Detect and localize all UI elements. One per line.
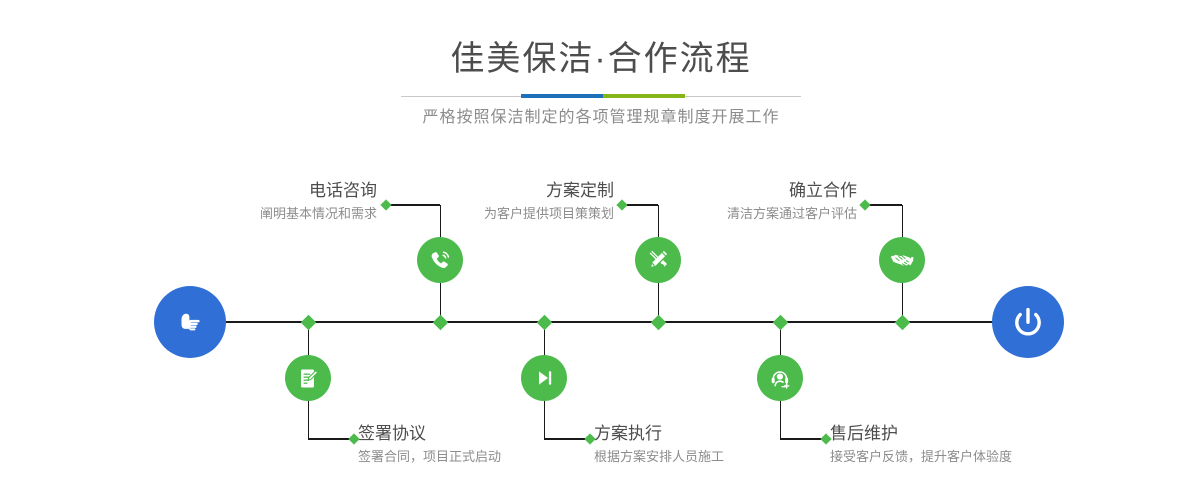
- step-title-2: 签署协议: [358, 423, 501, 445]
- pencil-ruler-icon: [644, 246, 672, 274]
- step-desc-2: 签署合同，项目正式启动: [358, 447, 501, 467]
- step-elbow-1: [386, 204, 440, 206]
- page-header: 佳美保洁·合作流程 严格按照保洁制定的各项管理规章制度开展工作: [0, 0, 1202, 150]
- power-icon: [1007, 301, 1049, 343]
- step-title-4: 方案执行: [594, 423, 724, 445]
- step-icon-circle-1[interactable]: [417, 237, 463, 283]
- divider-segment-green: [603, 94, 685, 98]
- handshake-icon: [888, 246, 917, 275]
- contract-sign-icon: [295, 365, 322, 392]
- page-title: 佳美保洁·合作流程: [0, 36, 1202, 82]
- axis-marker-6: [772, 314, 788, 330]
- step-tip-marker-5: [859, 199, 870, 210]
- pointing-hand-icon: [170, 302, 210, 342]
- process-timeline: 电话咨询 阐明基本情况和需求 签署协议 签署合同，项目正式启动: [0, 150, 1202, 502]
- step-title-5: 确立合作: [727, 180, 857, 202]
- axis-marker-3: [650, 314, 666, 330]
- step-desc-1: 阐明基本情况和需求: [260, 204, 377, 224]
- headset-support-icon: [767, 365, 794, 392]
- phone-call-icon: [426, 246, 454, 274]
- step-label-5: 确立合作 清洁方案通过客户评估: [727, 180, 857, 224]
- step-icon-circle-5[interactable]: [879, 237, 925, 283]
- divider-segment-blue: [521, 94, 603, 98]
- step-desc-6: 接受客户反馈，提升客户体验度: [830, 447, 1012, 467]
- step-label-1: 电话咨询 阐明基本情况和需求: [260, 180, 377, 224]
- step-label-6: 售后维护 接受客户反馈，提升客户体验度: [830, 423, 1012, 467]
- step-title-6: 售后维护: [830, 423, 1012, 445]
- page-subtitle: 严格按照保洁制定的各项管理规章制度开展工作: [0, 106, 1202, 130]
- step-icon-circle-3[interactable]: [635, 237, 681, 283]
- axis-marker-4: [536, 314, 552, 330]
- step-tip-marker-1: [380, 199, 391, 210]
- step-desc-3: 为客户提供项目策策划: [484, 204, 614, 224]
- step-desc-5: 清洁方案通过客户评估: [727, 204, 857, 224]
- axis-marker-1: [432, 314, 448, 330]
- step-label-4: 方案执行 根据方案安排人员施工: [594, 423, 724, 467]
- step-tip-marker-3: [616, 199, 627, 210]
- step-icon-circle-4[interactable]: [521, 355, 567, 401]
- play-execute-icon: [531, 365, 557, 391]
- step-label-2: 签署协议 签署合同，项目正式启动: [358, 423, 501, 467]
- timeline-end-endpoint[interactable]: [992, 286, 1064, 358]
- step-icon-circle-6[interactable]: [757, 355, 803, 401]
- axis-marker-2: [300, 314, 316, 330]
- step-elbow-6: [780, 438, 826, 440]
- title-divider: [401, 94, 801, 98]
- step-title-3: 方案定制: [484, 180, 614, 202]
- step-icon-circle-2[interactable]: [285, 355, 331, 401]
- step-label-3: 方案定制 为客户提供项目策策划: [484, 180, 614, 224]
- timeline-start-endpoint[interactable]: [154, 286, 226, 358]
- axis-marker-5: [894, 314, 910, 330]
- step-elbow-2: [308, 438, 354, 440]
- step-elbow-4: [544, 438, 590, 440]
- step-desc-4: 根据方案安排人员施工: [594, 447, 724, 467]
- step-title-1: 电话咨询: [260, 180, 377, 202]
